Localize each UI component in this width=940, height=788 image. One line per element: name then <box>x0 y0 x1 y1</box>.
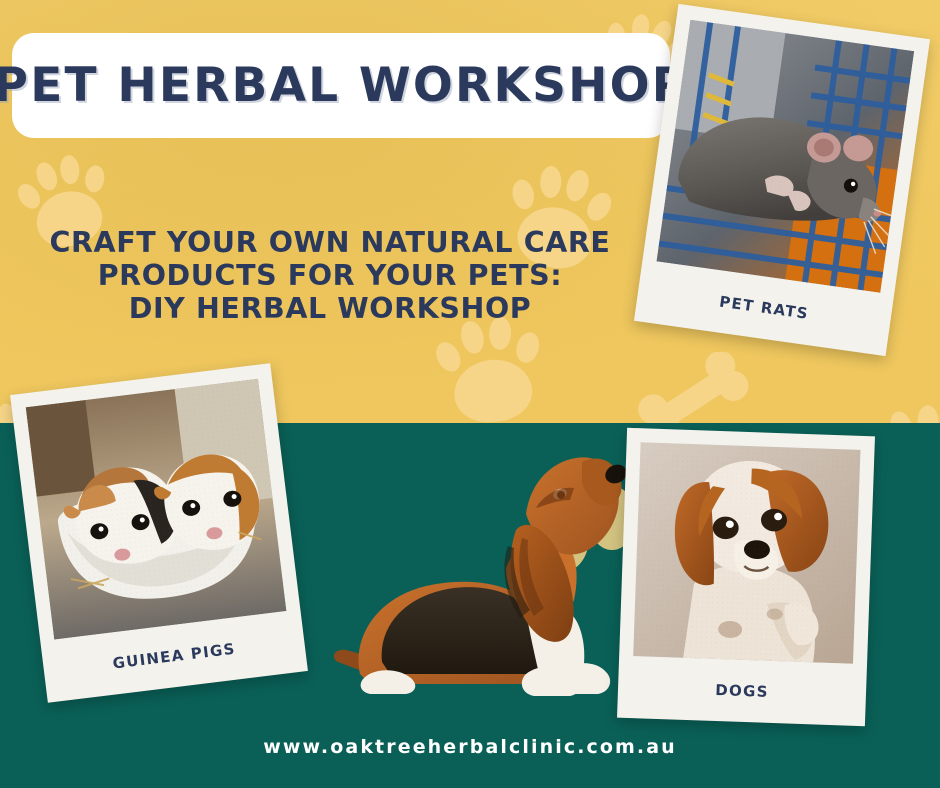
subtitle-line-2: PRODUCTS FOR YOUR PETS: <box>0 259 660 292</box>
subtitle-block: CRAFT YOUR OWN NATURAL CARE PRODUCTS FOR… <box>0 226 660 325</box>
website-url[interactable]: www.oaktreeherbalclinic.com.au <box>0 736 940 758</box>
subtitle-line-3: DIY HERBAL WORKSHOP <box>0 292 660 325</box>
subtitle-line-1: CRAFT YOUR OWN NATURAL CARE <box>0 226 660 259</box>
photo-card-dogs[interactable]: DOGS <box>617 428 875 726</box>
photo-dogs <box>633 442 860 664</box>
photo-rats <box>656 20 914 293</box>
photo-caption-dogs: DOGS <box>631 656 853 726</box>
basset-hound-illustration <box>330 362 630 712</box>
photo-card-guinea-pigs[interactable]: GUINEA PIGS <box>10 363 308 703</box>
title-card: PET HERBAL WORKSHOP <box>12 33 670 138</box>
photo-card-rats[interactable]: PET RATS <box>634 4 930 356</box>
photo-guinea-pigs <box>26 379 287 640</box>
page-title: PET HERBAL WORKSHOP <box>0 58 688 113</box>
poster: PET HERBAL WORKSHOP CRAFT YOUR OWN NATUR… <box>0 0 940 788</box>
